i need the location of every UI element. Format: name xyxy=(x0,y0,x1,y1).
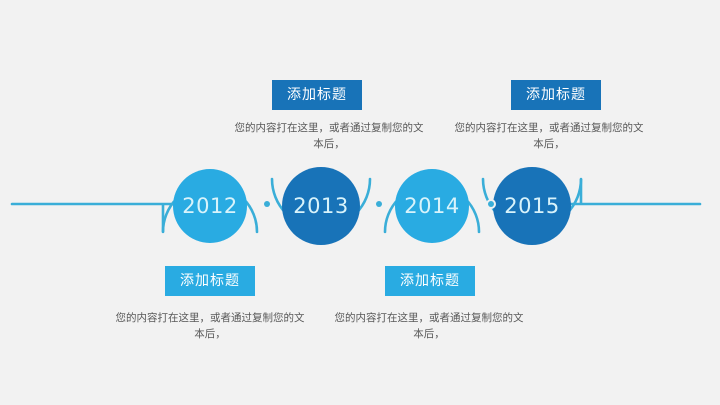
timeline-circle-layer xyxy=(173,167,571,245)
title-chip-2013[interactable]: 添加标题 xyxy=(272,80,362,110)
timeline-graphic xyxy=(0,0,720,405)
connector-dot-3 xyxy=(488,201,494,207)
description-2015: 您的内容打在这里，或者通过复制您的文本后， xyxy=(454,120,644,152)
connector-dot-2 xyxy=(376,201,382,207)
connector-dot-1 xyxy=(264,201,270,207)
description-2014: 您的内容打在这里，或者通过复制您的文本后， xyxy=(334,310,524,342)
timeline-node-2015[interactable] xyxy=(493,167,571,245)
slide-canvas: 2012201320142015 添加标题添加标题添加标题添加标题 您的内容打在… xyxy=(0,0,720,405)
timeline-node-2013[interactable] xyxy=(282,167,360,245)
description-2012: 您的内容打在这里，或者通过复制您的文本后， xyxy=(115,310,305,342)
timeline-node-2014[interactable] xyxy=(395,169,469,243)
description-2013: 您的内容打在这里，或者通过复制您的文本后， xyxy=(234,120,424,152)
title-chip-2014[interactable]: 添加标题 xyxy=(385,266,475,296)
title-chip-2012[interactable]: 添加标题 xyxy=(165,266,255,296)
title-chip-2015[interactable]: 添加标题 xyxy=(511,80,601,110)
timeline-node-2012[interactable] xyxy=(173,169,247,243)
